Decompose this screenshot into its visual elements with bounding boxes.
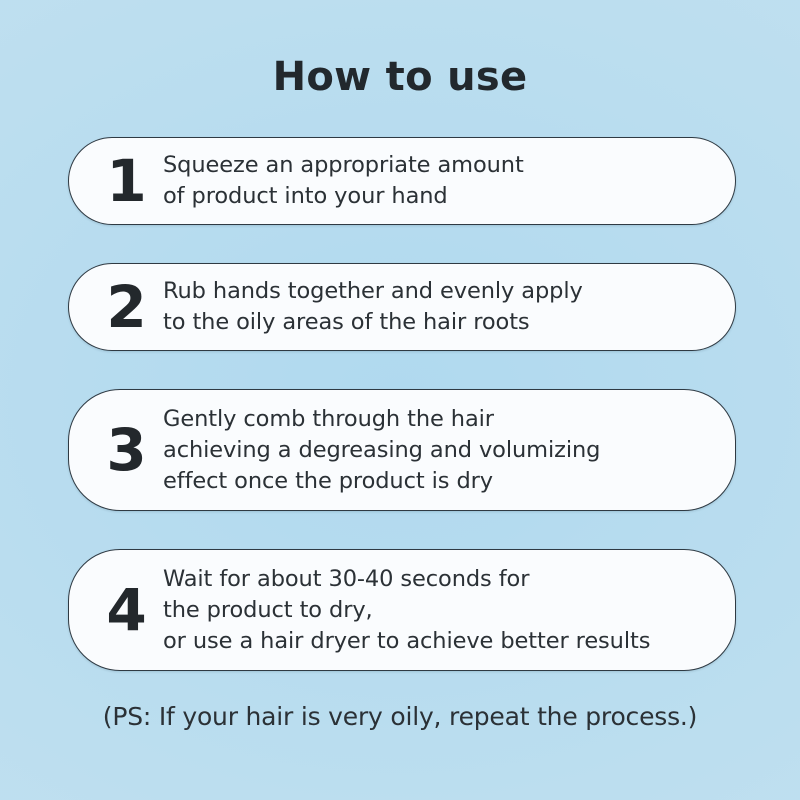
step-number-4: 4: [91, 581, 161, 639]
step-4-line-1: Wait for about 30-40 seconds for: [163, 564, 709, 595]
step-2-line-2: to the oily areas of the hair roots: [163, 307, 709, 338]
step-number-3: 3: [91, 421, 161, 479]
ps-note: (PS: If your hair is very oily, repeat t…: [0, 700, 800, 734]
how-to-use-poster: How to use 1 Squeeze an appropriate amou…: [0, 0, 800, 800]
step-text-1: Squeeze an appropriate amount of product…: [163, 150, 709, 212]
step-number-2: 2: [91, 278, 161, 336]
page-title: How to use: [0, 52, 800, 102]
step-card-1: 1 Squeeze an appropriate amount of produ…: [68, 137, 736, 225]
step-text-4: Wait for about 30-40 seconds for the pro…: [163, 564, 709, 657]
step-3-line-1: Gently comb through the hair: [163, 404, 709, 435]
step-4-line-3: or use a hair dryer to achieve better re…: [163, 626, 709, 657]
step-4-line-2: the product to dry,: [163, 595, 709, 626]
steps-list: 1 Squeeze an appropriate amount of produ…: [68, 137, 736, 709]
step-1-line-2: of product into your hand: [163, 181, 709, 212]
step-2-line-1: Rub hands together and evenly apply: [163, 276, 709, 307]
step-number-1: 1: [91, 152, 161, 210]
step-card-4: 4 Wait for about 30-40 seconds for the p…: [68, 549, 736, 671]
step-3-line-3: effect once the product is dry: [163, 466, 709, 497]
step-1-line-1: Squeeze an appropriate amount: [163, 150, 709, 181]
step-3-line-2: achieving a degreasing and volumizing: [163, 435, 709, 466]
step-text-3: Gently comb through the hair achieving a…: [163, 404, 709, 497]
step-text-2: Rub hands together and evenly apply to t…: [163, 276, 709, 338]
step-card-2: 2 Rub hands together and evenly apply to…: [68, 263, 736, 351]
step-card-3: 3 Gently comb through the hair achieving…: [68, 389, 736, 511]
